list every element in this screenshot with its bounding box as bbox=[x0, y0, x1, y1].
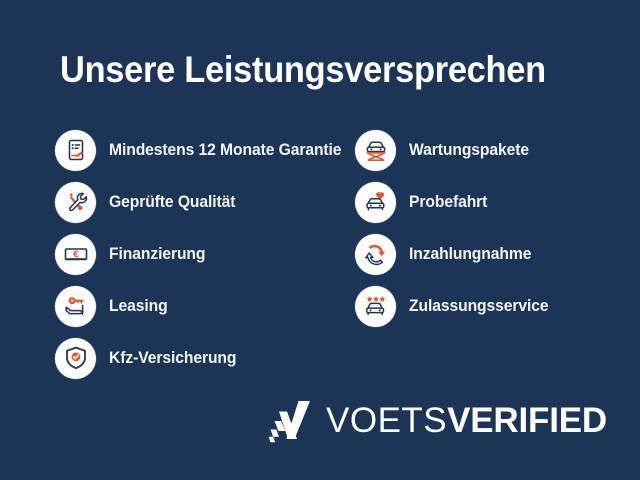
feature-label: Probefahrt bbox=[409, 193, 487, 212]
logo-name-light: VOETS bbox=[326, 402, 447, 440]
features-column-left: Mindestens 12 Monate Garantie Geprüfte Q… bbox=[0, 124, 330, 384]
feature-item-inzahlungnahme: Inzahlungnahme bbox=[355, 228, 640, 280]
feature-item-qualitaet: Geprüfte Qualität bbox=[55, 176, 330, 228]
feature-item-finanzierung: € Finanzierung bbox=[55, 228, 330, 280]
voets-v-checkmark-icon bbox=[268, 398, 312, 444]
logo-wordmark: VOETSVERIFIED bbox=[326, 402, 607, 440]
features-column-right: Wartungspakete Probefahrt bbox=[330, 124, 640, 384]
exchange-arrows-icon bbox=[355, 234, 396, 275]
features-grid: Mindestens 12 Monate Garantie Geprüfte Q… bbox=[0, 124, 640, 384]
document-pen-icon bbox=[55, 130, 96, 171]
feature-item-probefahrt: Probefahrt bbox=[355, 176, 640, 228]
feature-label: Geprüfte Qualität bbox=[109, 193, 235, 212]
feature-item-leasing: Leasing bbox=[55, 280, 330, 332]
wrench-screwdriver-icon bbox=[55, 182, 96, 223]
feature-item-versicherung: Kfz-Versicherung bbox=[55, 332, 330, 384]
logo-name-bold: VERIFIED bbox=[447, 402, 607, 440]
feature-item-garantie: Mindestens 12 Monate Garantie bbox=[55, 124, 330, 176]
svg-text:€: € bbox=[73, 248, 79, 260]
feature-label: Wartungspakete bbox=[409, 141, 529, 160]
car-heart-icon bbox=[355, 182, 396, 223]
feature-item-zulassungsservice: Zulassungsservice bbox=[355, 280, 640, 332]
feature-item-wartungspakete: Wartungspakete bbox=[355, 124, 640, 176]
hand-key-icon bbox=[55, 286, 96, 327]
car-lift-icon bbox=[355, 130, 396, 171]
feature-label: Kfz-Versicherung bbox=[109, 349, 236, 368]
promo-banner: Unsere Leistungsversprechen bbox=[0, 0, 640, 480]
feature-label: Zulassungsservice bbox=[409, 297, 549, 316]
feature-label: Mindestens 12 Monate Garantie bbox=[109, 141, 341, 160]
car-stars-icon bbox=[355, 286, 396, 327]
feature-label: Inzahlungnahme bbox=[409, 245, 531, 264]
feature-label: Finanzierung bbox=[109, 245, 205, 264]
banknote-euro-icon: € bbox=[55, 234, 96, 275]
shield-check-icon bbox=[55, 338, 96, 379]
voets-verified-logo: VOETSVERIFIED bbox=[268, 398, 607, 444]
feature-label: Leasing bbox=[109, 297, 168, 316]
page-title: Unsere Leistungsversprechen bbox=[60, 48, 546, 92]
